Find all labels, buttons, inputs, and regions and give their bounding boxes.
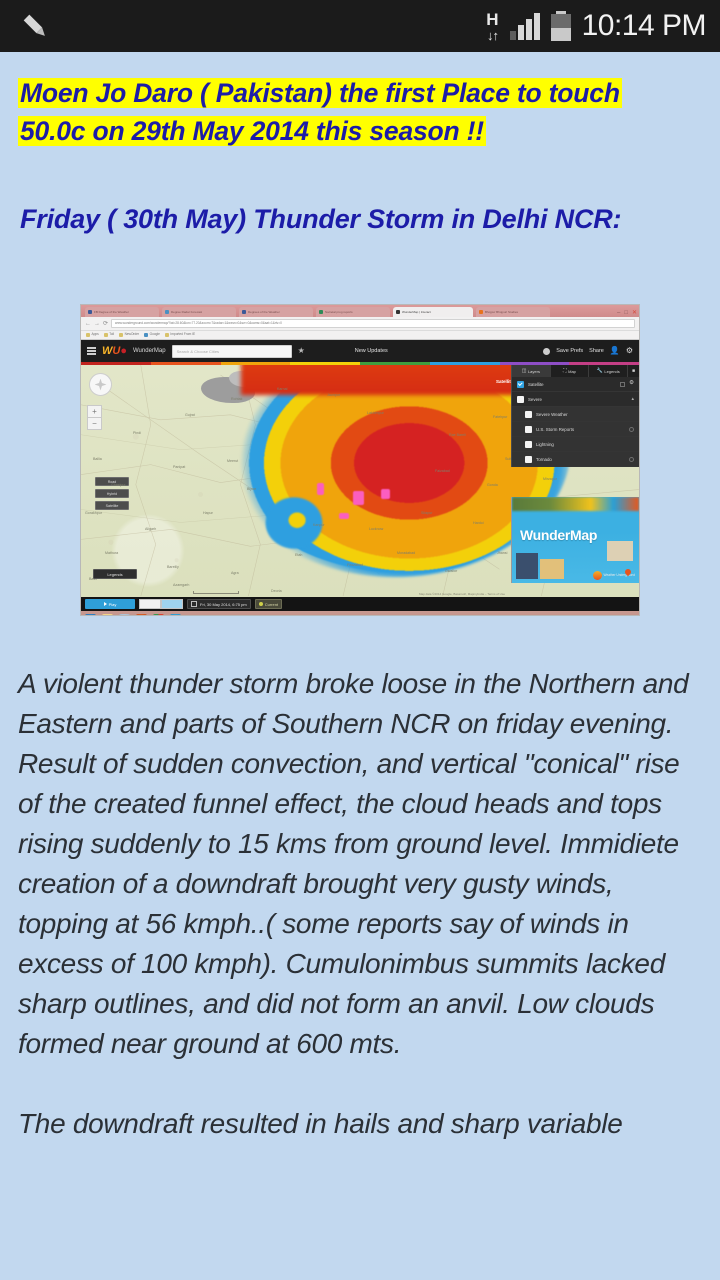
current-dot-icon [259,602,263,606]
map-label: Jaunpur [327,393,340,397]
favicon-icon [165,310,169,314]
layers-icon: ◫ [522,369,527,374]
map-attribution: Map data ©2014 Google, Basarsoft, MapmyI… [419,592,505,596]
signal-bars-icon [510,12,540,40]
bookmark-item[interactable]: NewOrder [119,333,139,337]
map-label: Kanpur [313,523,325,527]
browser-tab[interactable]: Societal prog reports [316,307,390,317]
status-bar-right: H ↓↑ 10:14 PM [486,9,720,43]
firefox-icon[interactable] [136,614,147,617]
media-player-icon[interactable] [119,614,130,617]
map-label: Etah [295,553,302,557]
browser-tab-title: WunderMap | Interact [402,311,431,314]
layer-row-lightning[interactable]: Lightning [512,437,639,452]
bookmark-label: Toll [109,333,114,336]
map-icon: ⛶ [563,369,567,374]
save-prefs-label[interactable]: Save Prefs [556,348,583,354]
speed-option-slow[interactable] [139,599,161,609]
browser-tab[interactable]: FB Degree of the Weather [85,307,159,317]
ad-photo-thumb [607,541,633,561]
checkbox-severe[interactable] [517,396,524,403]
layer-row-tornado[interactable]: Tornado [512,452,639,467]
city-search-placeholder: Search & Choose Cities [177,349,219,354]
map-label: Hardoi [473,521,484,525]
layer-label: Severe [528,397,627,402]
network-type-icon: H ↓↑ [486,11,498,42]
radar-core-cell [317,483,324,495]
wu-bubble-icon [593,571,602,580]
browser-tab[interactable]: Degrees of the Weather [239,307,313,317]
map-label: Ghazipur [111,483,126,487]
map-label: Faizabad [435,469,450,473]
current-badge[interactable]: Current [255,599,282,609]
layer-label: Lightning [536,442,634,447]
map-label: Firozabad [347,563,363,567]
updates-label[interactable]: New Updates [355,348,388,354]
bookmark-label: NewOrder [125,333,140,336]
playback-date-label: Fri, 30 May 2014, 6:75 pm [200,602,247,607]
save-prefs-icon[interactable] [543,348,550,355]
article-content: Moen Jo Daro ( Pakistan) the first Place… [0,52,720,236]
zoom-controls[interactable]: + − [87,405,102,429]
checkbox-lightning[interactable] [525,441,532,448]
map-label: Azamgarh [173,583,189,587]
map-label: Fatehpur [493,415,507,419]
wu-logo[interactable]: WU● [102,346,127,357]
embedded-browser-screenshot[interactable]: FB Degree of the Weather Degree Radar Fo… [80,304,640,616]
map-label: Gwalior [445,569,457,573]
map-label: Bijnor [247,487,256,491]
layers-panel[interactable]: ◫ Layers ⛶ Map 🔧 Legends ■ Satellite ⚙ [511,365,639,467]
favicon-icon [242,310,246,314]
body-paragraph-3: The downdraft resulted in hails and shar… [18,1104,702,1144]
subheading: Friday ( 30th May) Thunder Storm in Delh… [0,150,720,236]
layer-toggle-box[interactable] [620,382,625,387]
bookmark-icon [144,333,148,337]
map-type-satellite-label: Satellite [106,504,119,508]
navbar-right-actions: Save Prefs Share 👤 ⚙ [543,347,633,355]
bookmarks-bar: Apps Toll NewOrder Google Imported From … [81,331,639,340]
layer-label: U.S. Storm Reports [536,427,625,432]
bookmark-label: Apps [92,333,99,336]
browser-tab[interactable]: Bhojpur Bhojpuri Studies [476,307,550,317]
map-label: Lucknow [369,527,383,531]
browser-tab-active[interactable]: WunderMap | Interact [393,307,473,317]
window-controls[interactable]: – □ ✕ [617,310,637,316]
favicon-icon [396,310,400,314]
browser-tab-title: Bhojpur Bhojpuri Studies [485,311,518,314]
share-label[interactable]: Share [589,348,604,354]
headline-line-2: 50.0c on 29th May 2014 this season !! [20,116,484,146]
bookmark-item[interactable]: Imported From IE [165,333,195,337]
gear-icon[interactable]: ⚙ [629,381,634,387]
city-search-input[interactable]: Search & Choose Cities [172,345,292,358]
speed-option-fast[interactable] [161,599,183,609]
layer-label: Severe Weather [536,412,634,417]
bookmark-label: Imported From IE [170,333,195,336]
browser-tab-title: Degree Radar Forecast [171,311,202,314]
map-label: Pindi [133,431,141,435]
favicon-icon [319,310,323,314]
map-label: Aligarh [145,527,156,531]
status-bar-left [0,9,486,43]
browser-tab-title: Degrees of the Weather [248,311,280,314]
layer-label: Satellite [528,382,616,387]
play-button[interactable]: Play [85,599,135,609]
map-label: Bareilly [167,565,179,569]
minimize-button[interactable]: – [617,310,620,316]
playback-speed-segments[interactable] [139,599,183,609]
wundermap-navbar: WU● WunderMap Search & Choose Cities ★ N… [81,340,639,362]
person-icon[interactable]: 👤 [610,347,620,355]
ad-title: WunderMap [520,527,597,543]
map-label: Moradabad [397,551,415,555]
favicon-icon [479,310,483,314]
tab-legends-label: Legends [604,369,619,374]
android-status-bar: H ↓↑ 10:14 PM [0,0,720,52]
tab-map[interactable]: ⛶ Map [551,365,590,377]
radar-core-cell [381,489,390,499]
map-label: Sitapur [421,511,432,515]
layer-row-severe-weather[interactable]: Severe Weather [512,407,639,422]
map-label: Mathura [105,551,118,555]
ad-photo-thumb [516,553,538,579]
wrench-icon: 🔧 [597,369,603,374]
map-label: Hapur [203,511,213,515]
close-icon[interactable]: ■ [628,365,639,377]
map-label: Gorakhpur [85,511,102,515]
map-label: Deoria [271,589,282,593]
legends-button-label: Legends [107,572,122,577]
star-icon[interactable]: ★ [298,347,305,355]
battery-icon [551,11,571,41]
bookmark-label: Google [150,333,160,336]
tab-layers[interactable]: ◫ Layers [512,365,551,377]
map-label: Panipat [173,465,185,469]
chrome-icon[interactable] [153,614,164,617]
map-scale-bar [193,591,239,594]
article-body: A violent thunder storm broke loose in t… [0,664,720,1144]
back-icon[interactable]: ← [85,321,91,327]
maximize-button[interactable]: □ [624,310,628,316]
radar-core-cell [353,491,364,505]
layer-row-storm-reports[interactable]: U.S. Storm Reports [512,422,639,437]
skype-icon[interactable] [170,614,181,617]
bookmark-item[interactable]: Google [144,333,160,337]
network-letter: H [486,11,498,28]
checkbox-storm-reports[interactable] [525,426,532,433]
body-paragraph-1: A violent thunder storm broke loose in t… [18,664,702,744]
browser-tab-strip: FB Degree of the Weather Degree Radar Fo… [81,305,639,317]
close-button[interactable]: ✕ [632,310,637,316]
map-label: Gujrat [185,413,195,417]
internet-explorer-icon[interactable] [85,614,96,617]
map-label: Karnal [277,387,287,391]
layer-row-satellite[interactable]: Satellite ⚙ [512,377,639,392]
zoom-out-button[interactable]: − [87,417,102,430]
ad-photo-thumb [540,559,564,579]
current-badge-label: Current [265,602,278,607]
calendar-icon [191,601,197,607]
favicon-icon [88,310,92,314]
layer-label: Tornado [536,457,625,462]
wundermap-brand: WunderMap [133,348,166,354]
play-button-label: Play [109,602,117,607]
bookmark-item[interactable]: Toll [104,333,114,337]
map-label: Rae Bareli [449,433,466,437]
network-arrows: ↓↑ [487,29,498,42]
radar-core-cell [339,513,349,519]
ad-banner-strip [512,497,639,511]
bookmark-item[interactable]: Apps [86,333,99,337]
tab-layers-label: Layers [528,369,540,374]
browser-tab-title: FB Degree of the Weather [94,311,129,314]
bookmark-icon [165,333,169,337]
map-type-satellite[interactable]: Satellite [95,501,129,510]
address-bar[interactable]: www.wunderground.com/wundermap/?lat=28.6… [111,319,635,328]
map-type-hybrid-label: Hybrid [107,492,117,496]
bookmark-icon [119,333,123,337]
wundermap-ad-panel[interactable]: WunderMap Weather Underground [511,497,639,583]
info-icon[interactable] [629,457,634,462]
bookmark-icon [86,333,90,337]
layer-row-severe[interactable]: Severe ▴ [512,392,639,407]
browser-tab-title: Societal prog reports [325,311,353,314]
bookmark-icon [104,333,108,337]
legends-button[interactable]: Legends [93,569,137,579]
map-label: Rohtak [231,397,242,401]
info-icon[interactable] [629,427,634,432]
folder-icon[interactable] [102,614,113,617]
play-icon [104,602,107,606]
radar-map[interactable]: Satellite, 5/30 7:50 IST + − Road Hybrid… [81,365,639,597]
hamburger-icon[interactable] [87,347,96,355]
pan-compass-icon[interactable] [89,373,112,396]
ad-footer-label: Weather Underground [604,573,635,577]
windows-taskbar[interactable]: ☁ ♪ ■ ⚑ ▲ 7:51 PM 30-05-2014 [81,611,639,616]
tab-legends[interactable]: 🔧 Legends [589,365,628,377]
map-label: Mirzapur [543,477,557,481]
browser-toolbar: ← → ⟳ www.wunderground.com/wundermap/?la… [81,317,639,331]
layers-panel-tabs: ◫ Layers ⛶ Map 🔧 Legends ■ [512,365,639,377]
map-label: Agra [231,571,239,575]
radar-playback-bar[interactable]: Play Fri, 30 May 2014, 6:75 pm Current [81,597,639,611]
status-bar-clock: 10:14 PM [582,9,706,43]
body-paragraph-2: Result of sudden convection, and vertica… [18,744,702,1064]
reload-icon[interactable]: ⟳ [103,321,108,327]
map-label: Lakhimpur [367,411,384,415]
gear-icon[interactable]: ⚙ [626,347,633,355]
map-label: Ballia [93,457,102,461]
checkbox-severe-weather[interactable] [525,411,532,418]
checkbox-tornado[interactable] [525,456,532,463]
checkbox-satellite[interactable] [517,381,524,388]
map-type-hybrid[interactable]: Hybrid [95,489,129,498]
page-title: Moen Jo Daro ( Pakistan) the first Place… [0,52,720,150]
headline-line-1: Moen Jo Daro ( Pakistan) the first Place… [20,78,620,108]
map-label: Gonda [487,483,498,487]
tab-map-label: Map [568,369,576,374]
map-label: Jhansi [497,551,507,555]
address-bar-url: www.wunderground.com/wundermap/?lat=28.6… [115,322,282,325]
playback-date-field[interactable]: Fri, 30 May 2014, 6:75 pm [187,599,251,609]
pencil-icon [18,9,52,43]
chevron-up-icon[interactable]: ▴ [631,397,634,402]
map-label: Meerut [227,459,238,463]
forward-icon[interactable]: → [94,321,100,327]
browser-tab[interactable]: Degree Radar Forecast [162,307,236,317]
